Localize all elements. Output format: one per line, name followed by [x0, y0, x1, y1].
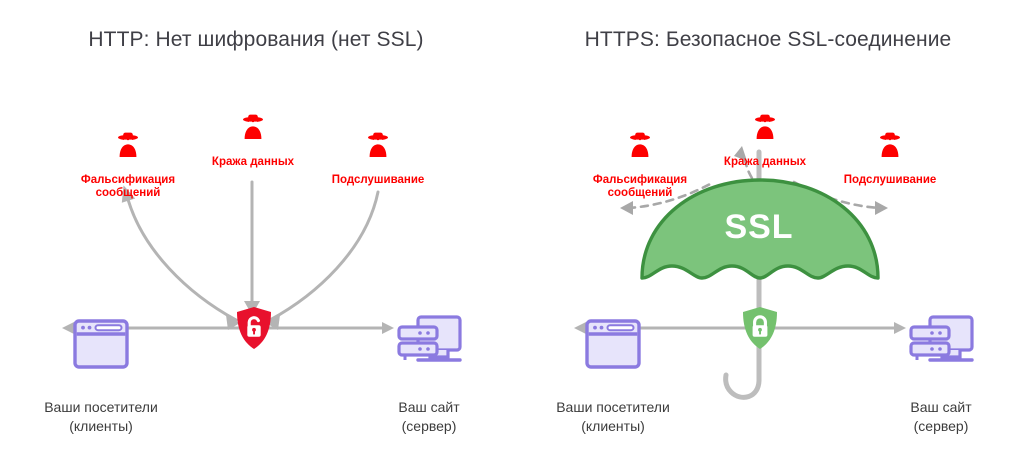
client-label: Ваши посетители (клиенты)	[18, 398, 184, 436]
hacker-icon	[240, 113, 266, 139]
server-endpoint: Ваш сайт (сервер)	[868, 296, 1014, 455]
browser-window-icon	[585, 319, 641, 369]
threat-eavesdropping: Подслушивание	[298, 118, 458, 200]
threat-label: Подслушивание	[810, 174, 970, 187]
server-monitor-icon	[908, 315, 974, 369]
threat-eavesdropping: Подслушивание	[810, 118, 970, 200]
threat-label: Подслушивание	[298, 174, 458, 187]
server-endpoint: Ваш сайт (сервер)	[356, 296, 502, 455]
server-label: Ваш сайт (сервер)	[868, 398, 1014, 436]
browser-window-icon	[73, 319, 129, 369]
http-panel-title: HTTP: Нет шифрования (нет SSL)	[0, 28, 512, 52]
hacker-icon	[752, 113, 778, 139]
hacker-icon	[877, 131, 903, 157]
https-panel-title: HTTPS: Безопасное SSL-соединение	[512, 28, 1024, 52]
server-label: Ваш сайт (сервер)	[356, 398, 502, 436]
shield-unlocked-icon	[235, 306, 273, 350]
http-panel: HTTP: Нет шифрования (нет SSL)	[0, 0, 512, 424]
client-endpoint: Ваши посетители (клиенты)	[18, 300, 184, 455]
umbrella-ssl-text: SSL	[679, 208, 839, 247]
client-label: Ваши посетители (клиенты)	[530, 398, 696, 436]
https-panel: HTTPS: Безопасное SSL-соединение SSL	[512, 0, 1024, 424]
server-monitor-icon	[396, 315, 462, 369]
hacker-icon	[115, 131, 141, 157]
hacker-icon	[365, 131, 391, 157]
hacker-icon	[627, 131, 653, 157]
shield-locked-icon	[741, 306, 779, 350]
client-endpoint: Ваши посетители (клиенты)	[530, 300, 696, 455]
